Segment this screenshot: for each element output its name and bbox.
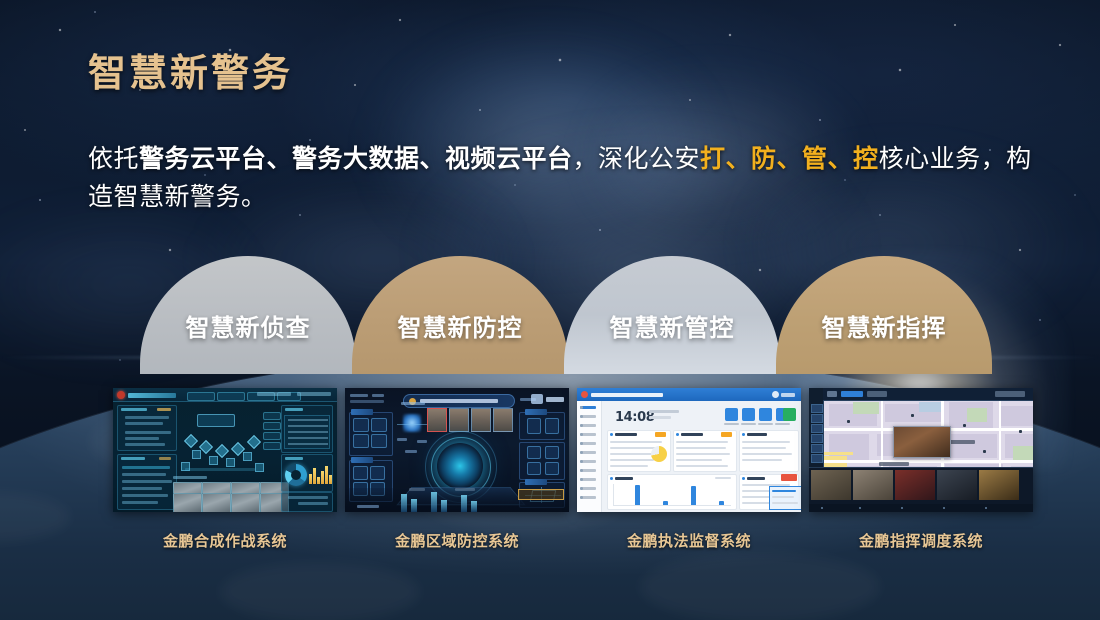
mock-title-pill bbox=[403, 394, 515, 408]
mock-list-card bbox=[739, 430, 799, 472]
mock-title-text bbox=[420, 399, 498, 403]
product-caption-4: 金鹏指挥调度系统 bbox=[809, 530, 1033, 551]
mock-center-badge bbox=[197, 414, 235, 427]
mock-camera-cell[interactable] bbox=[895, 470, 935, 500]
mock-toolbar-tab[interactable] bbox=[867, 391, 887, 397]
mock-tool-button[interactable] bbox=[811, 424, 823, 433]
mock-glow-node bbox=[403, 414, 421, 432]
mock-camera-cell[interactable] bbox=[937, 470, 977, 500]
mock-gis-dispatch bbox=[809, 388, 1033, 512]
mock-toolbar-icon[interactable] bbox=[827, 391, 837, 397]
mock-tool-button[interactable] bbox=[811, 414, 823, 423]
mock-quick-action[interactable] bbox=[783, 408, 796, 421]
mock-nav-item[interactable] bbox=[217, 392, 245, 401]
police-badge-icon bbox=[581, 391, 588, 398]
product-caption-1: 金鹏合成作战系统 bbox=[113, 530, 337, 551]
mock-person-card[interactable] bbox=[493, 408, 513, 432]
mock-quick-action[interactable] bbox=[725, 408, 738, 421]
mock-alert-banner bbox=[518, 489, 564, 500]
mock-command-dashboard bbox=[113, 388, 337, 512]
mock-camera-filmstrip bbox=[809, 467, 1033, 504]
mock-header-meta bbox=[257, 392, 291, 396]
mock-camera-cell[interactable] bbox=[979, 470, 1019, 500]
mock-alert-button[interactable] bbox=[781, 474, 797, 481]
product-screenshot-3[interactable]: 14:08 bbox=[577, 388, 801, 512]
mock-tool-button[interactable] bbox=[811, 434, 823, 443]
mock-username bbox=[781, 393, 795, 397]
mock-quick-action[interactable] bbox=[742, 408, 755, 421]
mock-toolbar-tab[interactable] bbox=[841, 391, 863, 397]
mock-toolbar-status bbox=[995, 391, 1025, 397]
mock-quick-action[interactable] bbox=[759, 408, 772, 421]
product-caption-3: 金鹏执法监督系统 bbox=[577, 530, 801, 551]
slide-canvas: 智慧新警务 依托警务云平台、警务大数据、视频云平台，深化公安打、防、管、控核心业… bbox=[0, 0, 1100, 620]
product-screenshot-2[interactable] bbox=[345, 388, 569, 512]
mock-timeline-bar[interactable] bbox=[809, 504, 1033, 512]
mock-header-meta bbox=[297, 392, 331, 396]
mock-donut-chart bbox=[285, 464, 307, 486]
mock-nav-item[interactable] bbox=[187, 392, 215, 401]
mock-admin-console: 14:08 bbox=[577, 388, 801, 512]
mock-tool-button[interactable] bbox=[811, 454, 823, 463]
mock-person-card[interactable] bbox=[471, 408, 491, 432]
mock-situation-board bbox=[345, 388, 569, 512]
mock-pie-chart bbox=[651, 446, 667, 462]
product-screenshot-4[interactable] bbox=[809, 388, 1033, 512]
police-badge-icon bbox=[117, 391, 125, 399]
mock-clock-meta bbox=[649, 410, 679, 413]
product-caption-2: 金鹏区域防控系统 bbox=[345, 530, 569, 551]
mock-tool-button[interactable] bbox=[811, 404, 823, 413]
avatar[interactable] bbox=[772, 391, 779, 398]
mock-header-bar bbox=[577, 388, 801, 401]
mock-bar-chart bbox=[309, 464, 333, 484]
mock-app-title bbox=[128, 393, 176, 398]
mock-video-popup[interactable] bbox=[893, 426, 951, 458]
product-screenshot-row: 14:08 bbox=[0, 0, 1100, 620]
product-screenshot-1[interactable] bbox=[113, 388, 337, 512]
mock-app-title bbox=[591, 393, 663, 397]
mock-person-card[interactable] bbox=[427, 408, 447, 432]
mock-camera-cell[interactable] bbox=[811, 470, 851, 500]
mock-clock-meta bbox=[649, 416, 671, 419]
mock-tool-button[interactable] bbox=[811, 444, 823, 453]
mock-user-icon[interactable] bbox=[531, 394, 543, 404]
mock-camera-cell[interactable] bbox=[853, 470, 893, 500]
mock-person-card[interactable] bbox=[449, 408, 469, 432]
